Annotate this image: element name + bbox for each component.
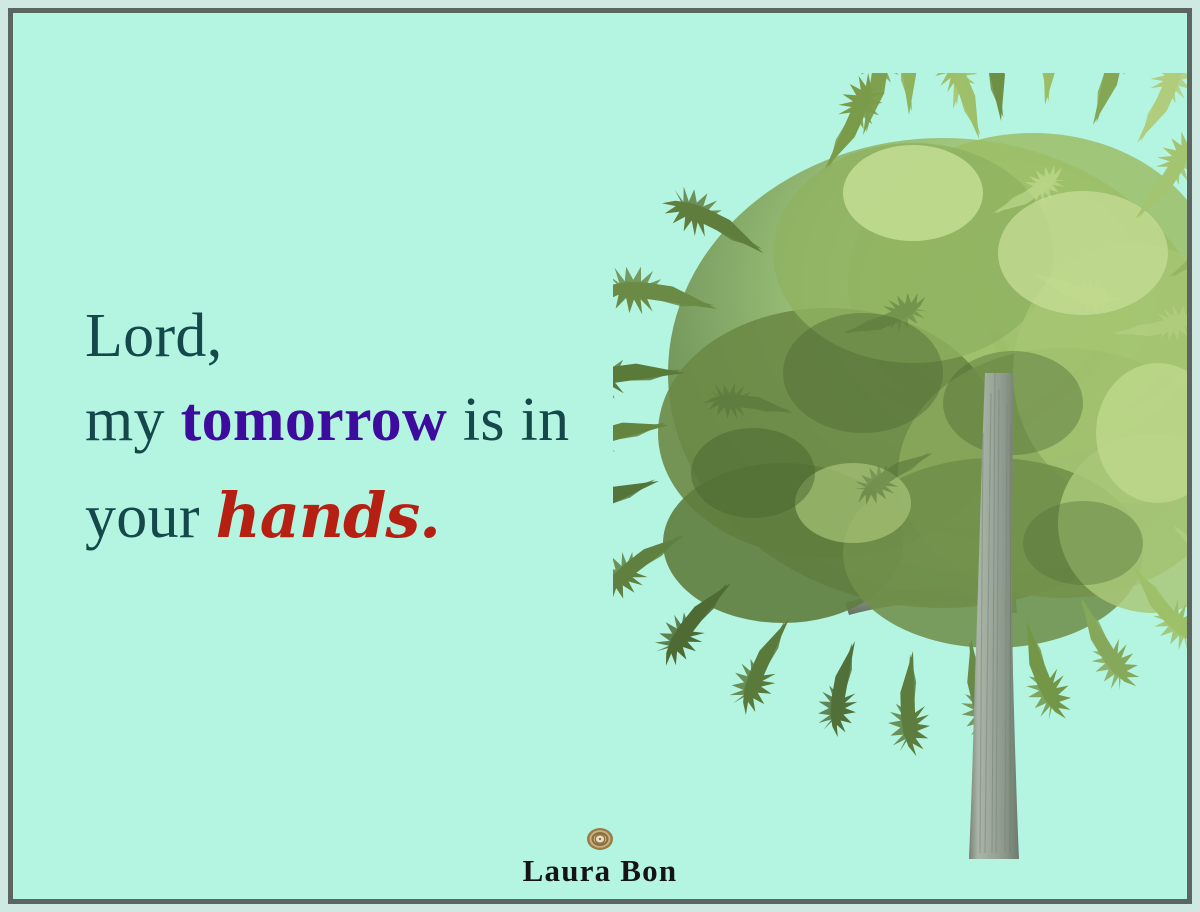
- quote-line-1-text: Lord,: [85, 302, 223, 370]
- tree-foliage-fronds: [613, 73, 1187, 757]
- quote-highlight-hands: hands.: [216, 479, 440, 552]
- quote-highlight-tomorrow: tomorrow: [181, 386, 447, 454]
- tree-branches: [825, 231, 1153, 615]
- quote-block: Lord, my tomorrow is in your hands.: [85, 305, 665, 548]
- quote-line-2-after: is in: [447, 386, 569, 454]
- laura-bon-emblem-icon: [583, 825, 617, 853]
- card-canvas: Lord, my tomorrow is in your hands. Laur…: [13, 13, 1187, 899]
- quote-line-3-before: your: [85, 483, 216, 551]
- quote-card: Lord, my tomorrow is in your hands. Laur…: [0, 0, 1200, 912]
- quote-line-3: your hands.: [85, 485, 665, 548]
- tree-canopy: [658, 133, 1187, 648]
- quote-line-2: my tomorrow is in: [85, 389, 665, 451]
- signature-block: Laura Bon: [13, 825, 1187, 888]
- quote-line-2-before: my: [85, 386, 181, 454]
- tree-trunk: [969, 373, 1019, 859]
- tree-illustration: [613, 73, 1187, 873]
- quote-line-1: Lord,: [85, 305, 665, 367]
- signature-name: Laura Bon: [13, 855, 1187, 888]
